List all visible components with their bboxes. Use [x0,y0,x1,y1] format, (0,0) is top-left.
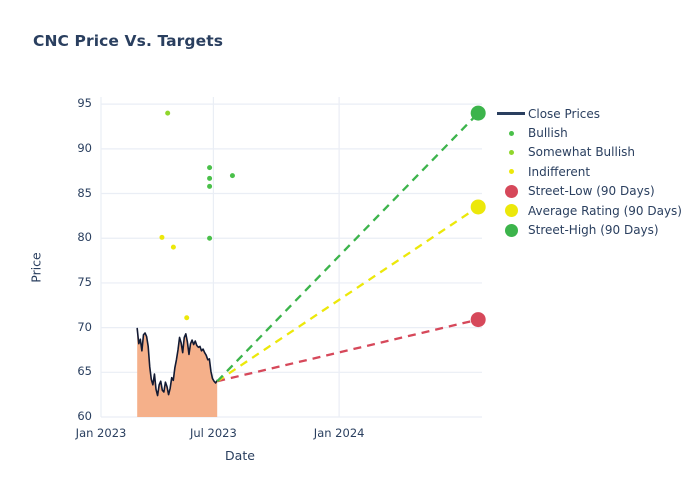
x-tick-label: Jul 2023 [168,426,258,440]
legend-line-swatch [494,112,528,115]
legend-item-label: Bullish [528,127,568,139]
legend-dot-swatch [494,224,528,237]
analyst-rating-point[interactable] [230,173,235,178]
legend-dot-swatch [494,131,528,136]
analyst-rating-point[interactable] [159,235,164,240]
target-projection-line [217,113,478,381]
legend-item-label: Indifferent [528,166,590,178]
y-tick-label: 60 [52,409,92,423]
legend-item-label: Close Prices [528,108,600,120]
analyst-rating-point[interactable] [207,184,212,189]
x-tick-label: Jan 2024 [294,426,384,440]
target-projection-line [217,207,478,381]
x-tick-label: Jan 2023 [56,426,146,440]
legend-item-label: Somewhat Bullish [528,146,635,158]
y-tick-label: 80 [52,230,92,244]
legend-item[interactable]: Somewhat Bullish [494,143,694,162]
legend-item[interactable]: Close Prices [494,104,694,123]
legend-dot-swatch [494,204,528,217]
analyst-rating-point[interactable] [207,165,212,170]
y-tick-label: 85 [52,186,92,200]
analyst-rating-point[interactable] [165,111,170,116]
y-tick-label: 65 [52,364,92,378]
analyst-rating-point[interactable] [171,245,176,250]
legend-dot-swatch [494,150,528,155]
line-icon [497,112,525,115]
circle-icon [509,169,514,174]
y-tick-label: 90 [52,141,92,155]
chart-legend: Close PricesBullishSomewhat BullishIndif… [494,104,694,240]
legend-item[interactable]: Bullish [494,123,694,142]
y-tick-label: 70 [52,320,92,334]
target-price-marker[interactable] [471,106,486,121]
legend-item[interactable]: Indifferent [494,162,694,181]
analyst-rating-point[interactable] [207,176,212,181]
circle-icon [509,150,514,155]
legend-item[interactable]: Street-High (90 Days) [494,220,694,239]
circle-icon [505,185,518,198]
legend-item-label: Average Rating (90 Days) [528,205,682,217]
y-tick-label: 95 [52,96,92,110]
close-price-area [137,329,217,417]
legend-item[interactable]: Average Rating (90 Days) [494,201,694,220]
legend-dot-swatch [494,169,528,174]
legend-item-label: Street-Low (90 Days) [528,185,655,197]
legend-dot-swatch [494,185,528,198]
target-price-marker[interactable] [471,312,486,327]
legend-item[interactable]: Street-Low (90 Days) [494,182,694,201]
circle-icon [509,131,514,136]
analyst-rating-point[interactable] [207,236,212,241]
circle-icon [505,224,518,237]
plot-area [0,0,700,500]
legend-item-label: Street-High (90 Days) [528,224,659,236]
target-price-marker[interactable] [471,199,486,214]
y-axis-title: Price [29,228,44,308]
circle-icon [505,204,518,217]
analyst-rating-point[interactable] [184,315,189,320]
chart-container: CNC Price Vs. Targets Date Price 9590858… [0,0,700,500]
y-tick-label: 75 [52,275,92,289]
x-axis-title: Date [0,448,480,463]
